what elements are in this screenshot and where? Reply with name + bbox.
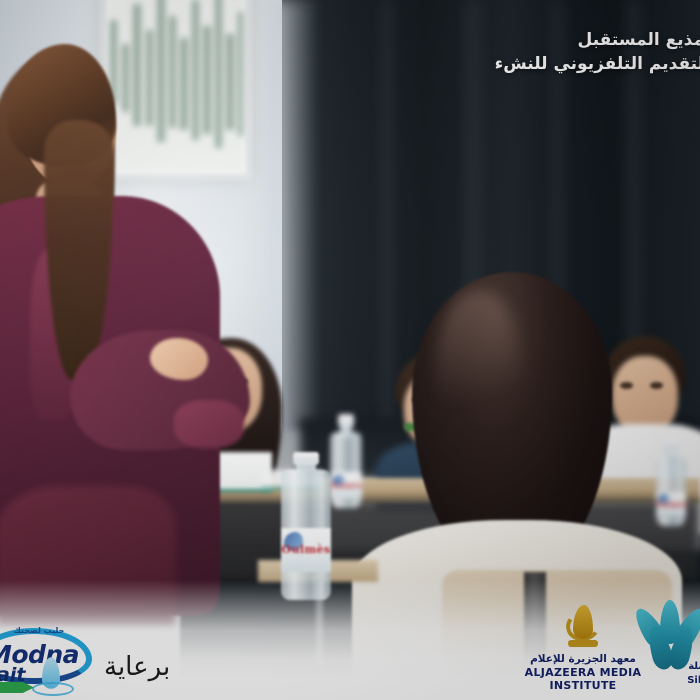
ripple-icon [32,682,74,696]
sila-leaf-icon [632,604,700,662]
water-bottle-back: Oulmès [330,414,362,506]
sila-logo: صلة Sila [622,608,700,694]
artwork-bar-11 [238,12,245,136]
artwork-bar-2 [133,4,141,126]
artwork-bar-4 [157,0,165,142]
bottle-body: Oulmès [656,456,686,526]
water-bottle-front: Oulmès [281,452,331,600]
artwork-bar-9 [215,0,222,148]
abstract-artwork-print [104,0,248,176]
artwork-bar-6 [180,38,188,130]
sponsored-by-label: برعاية [104,652,170,682]
bottle-brand-text: Oulmès [656,500,686,509]
curtain-fold-1 [378,0,396,470]
artwork-bar-7 [192,0,199,140]
artwork-bar-8 [203,26,211,134]
artwork-bar-1 [122,44,129,112]
bottle-body: Oulmès [281,470,331,600]
modna-arabic-tagline: حليب لصحتك [10,626,68,635]
sponsor-banner: حليب لصحتك Modna lait برعاية معهد الجزير… [0,604,700,700]
sila-arabic-name: صلة [688,661,700,672]
boy-white-tshirt-eye-right [650,382,663,389]
bottle-brand-text: Oulmès [281,543,331,556]
event-title: مذيع المستقبل لتقديم التلفزيوني للنشء [495,28,700,76]
boy-white-tshirt-eye-left [620,382,633,389]
artwork-bar-10 [226,34,234,130]
artwork-bar-5 [169,16,176,128]
event-title-line-1: مذيع المستقبل [495,28,700,52]
seated-woman-hair-sheen [436,290,522,440]
modna-lait-wordmark: lait [0,664,40,686]
bottle-brand-text: Oulmès [330,481,362,490]
water-bottle-right: Oulmès [656,438,686,522]
artwork-bar-3 [146,30,153,126]
aljazeera-flame-shape-icon [573,605,593,639]
bottle-label: Oulmès [656,492,686,516]
bottle-label: Oulmès [281,528,331,572]
sila-english-name: Sila [687,675,700,686]
bottle-body: Oulmès [330,432,362,508]
standing-woman-sleeve-cuff [174,400,244,448]
bottle-label: Oulmès [330,472,362,498]
modna-lait-logo: حليب لصحتك Modna lait [0,624,92,698]
aljazeera-flame-icon [560,603,606,649]
event-title-line-2: لتقديم التلفزيوني للنشء [495,52,700,76]
aljazeera-base-icon [568,640,598,647]
photo-banner-stage: Oulmès Oulmès Oulmès [0,0,700,700]
